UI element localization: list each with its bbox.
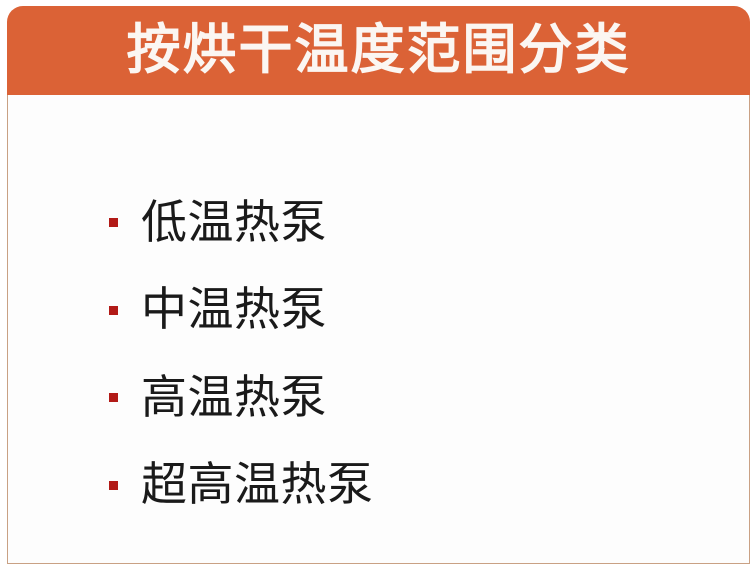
square-bullet-icon	[109, 306, 118, 315]
square-bullet-icon	[109, 393, 118, 402]
list-item-label: 中温热泵	[141, 286, 327, 332]
header-banner: 按烘干温度范围分类	[7, 6, 750, 95]
list-item[interactable]: 超高温热泵	[109, 441, 374, 529]
list-item-label: 低温热泵	[141, 199, 327, 245]
slide-container: 按烘干温度范围分类 低温热泵 中温热泵 高温热泵 超高温热泵	[0, 0, 755, 570]
square-bullet-icon	[109, 218, 118, 227]
list-item[interactable]: 低温热泵	[109, 178, 374, 266]
list-item-label: 超高温热泵	[141, 461, 374, 507]
square-bullet-icon	[109, 481, 118, 490]
list-item-label: 高温热泵	[141, 374, 327, 420]
content-body: 低温热泵 中温热泵 高温热泵 超高温热泵	[7, 95, 750, 564]
list-item[interactable]: 高温热泵	[109, 353, 374, 441]
page-title: 按烘干温度范围分类	[127, 23, 631, 79]
list-item[interactable]: 中温热泵	[109, 266, 374, 354]
bullet-list: 低温热泵 中温热泵 高温热泵 超高温热泵	[109, 178, 374, 528]
